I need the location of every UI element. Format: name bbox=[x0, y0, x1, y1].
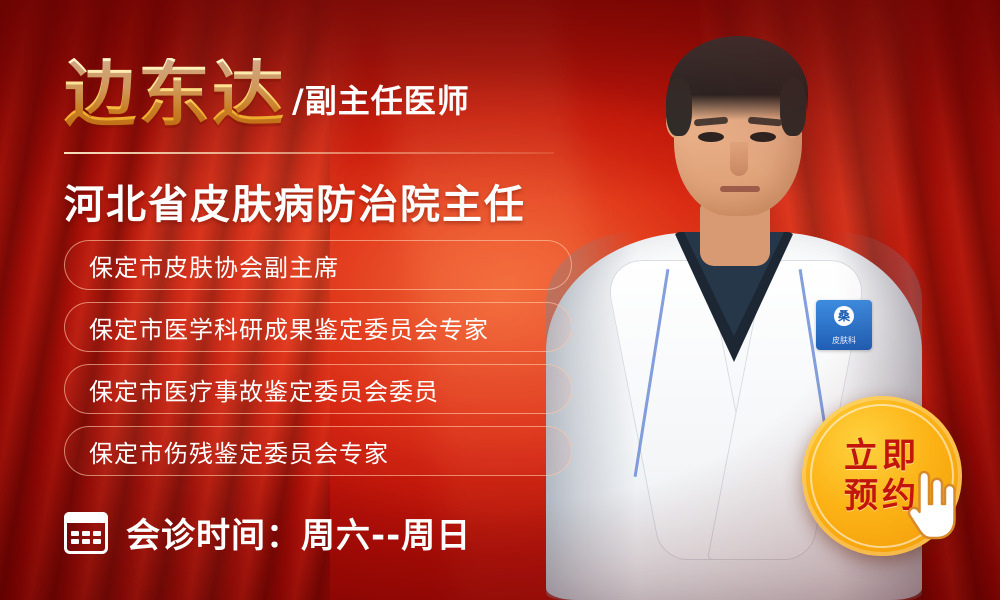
calendar-icon bbox=[64, 512, 108, 554]
credential-item: 保定市医学科研成果鉴定委员会专家 bbox=[64, 302, 572, 352]
appointment-cta-button[interactable]: 立即 预约 bbox=[802, 396, 962, 556]
credentials-list: 保定市皮肤协会副主席 保定市医学科研成果鉴定委员会专家 保定市医疗事故鉴定委员会… bbox=[64, 240, 584, 488]
credential-item: 保定市伤残鉴定委员会专家 bbox=[64, 426, 572, 476]
consult-time-row: 会诊时间：周六--周日 bbox=[64, 508, 471, 557]
consult-time-label: 会诊时间：周六--周日 bbox=[126, 508, 471, 557]
title-separator: / bbox=[292, 82, 305, 120]
banner-content: 边东达 /副主任医师 河北省皮肤病防治院主任 保定市皮肤协会副主席 保定市医学科… bbox=[0, 0, 640, 600]
doctor-title: /副主任医师 bbox=[292, 76, 470, 130]
doctor-promo-banner: 桑 皮肤科 边东达 /副主任医师 河北省皮肤病防治院主任 保定市皮肤协会副主席 bbox=[0, 0, 1000, 600]
doctor-subtitle: 河北省皮肤病防治院主任 bbox=[64, 172, 526, 230]
calendar-grid bbox=[71, 531, 101, 544]
cta-ring bbox=[810, 404, 954, 548]
doctor-name: 边东达 bbox=[64, 58, 286, 130]
doctor-name-row: 边东达 /副主任医师 bbox=[64, 58, 470, 130]
credential-label: 保定市伤残鉴定委员会专家 bbox=[89, 434, 389, 469]
credential-label: 保定市皮肤协会副主席 bbox=[89, 248, 339, 283]
credential-item: 保定市皮肤协会副主席 bbox=[64, 240, 572, 290]
credential-label: 保定市医学科研成果鉴定委员会专家 bbox=[89, 310, 489, 345]
title-divider bbox=[64, 152, 554, 154]
credential-item: 保定市医疗事故鉴定委员会委员 bbox=[64, 364, 572, 414]
credential-label: 保定市医疗事故鉴定委员会委员 bbox=[89, 372, 439, 407]
title-text: 副主任医师 bbox=[305, 82, 470, 120]
